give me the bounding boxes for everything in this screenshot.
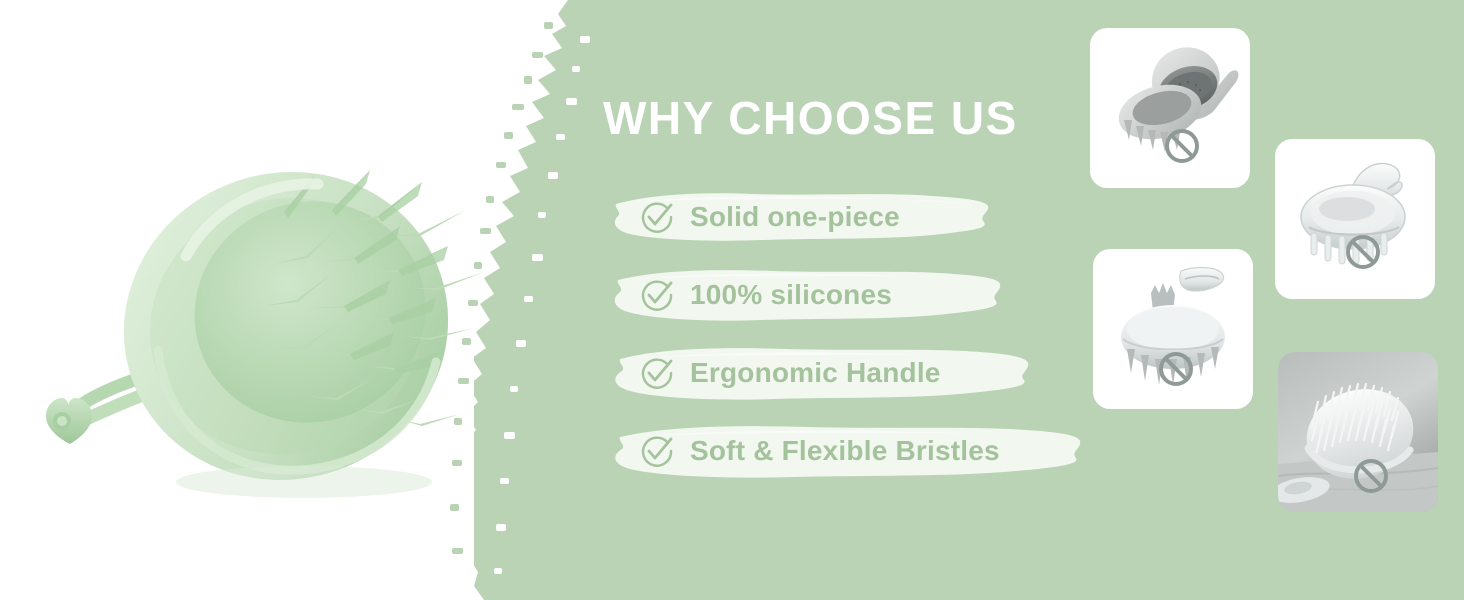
prohibition-icon (1167, 131, 1197, 161)
thin-bristle-brush-photo-card (1278, 352, 1438, 512)
feature-row: Soft & Flexible Bristles (612, 420, 1112, 498)
feature-list: Solid one-piece 100% silicones (612, 186, 1112, 496)
why-choose-us-banner: WHY CHOOSE US Solid one-piece (0, 0, 1464, 600)
circle-check-icon (638, 276, 676, 314)
feature-label: Ergonomic Handle (690, 357, 941, 389)
circle-check-icon (638, 354, 676, 392)
feature-label: Soft & Flexible Bristles (690, 435, 1000, 467)
feature-row: 100% silicones (612, 264, 1112, 342)
clear-plastic-brush-card (1275, 139, 1435, 299)
circle-check-icon (638, 198, 676, 236)
circle-check-icon (638, 432, 676, 470)
split-two-piece-brush-card (1090, 28, 1250, 188)
detachable-handle-brush-card (1093, 249, 1253, 409)
feature-row: Ergonomic Handle (612, 342, 1112, 420)
feature-label: Solid one-piece (690, 201, 900, 233)
main-product-image (18, 126, 538, 504)
page-title: WHY CHOOSE US (603, 93, 1018, 143)
feature-label: 100% silicones (690, 279, 892, 311)
feature-row: Solid one-piece (612, 186, 1112, 264)
